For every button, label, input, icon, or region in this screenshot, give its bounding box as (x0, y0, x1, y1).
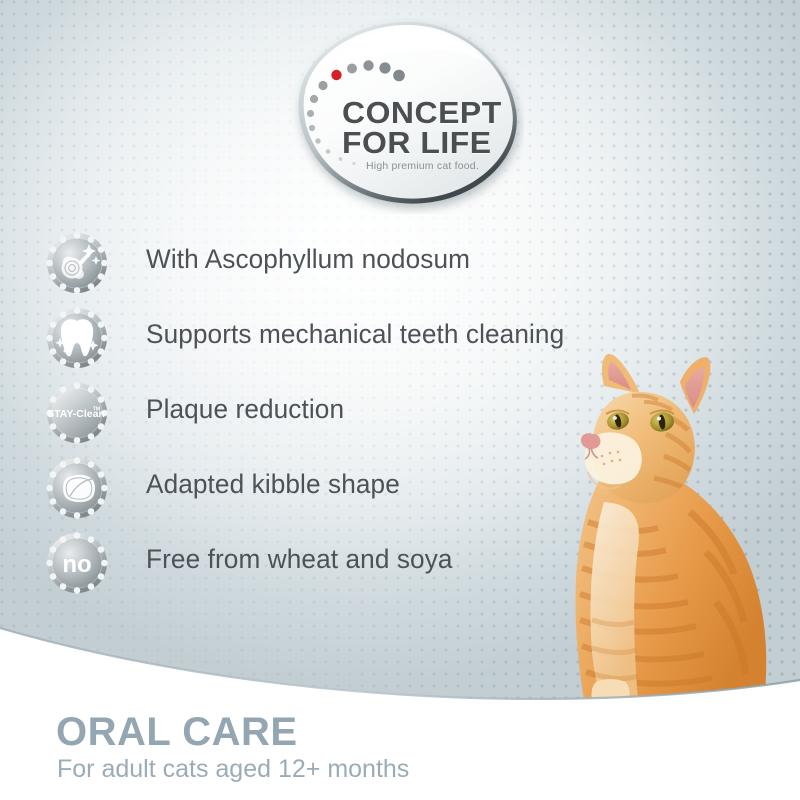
logo-plaque-shape (299, 22, 517, 204)
feature-row: Supports mechanical teeth cleaning (46, 307, 606, 382)
no-badge-icon: no (46, 532, 108, 594)
feature-row: no Free from wheat and soya (46, 532, 606, 607)
feature-label: With Ascophyllum nodosum (146, 244, 470, 275)
logo-accent-dot (331, 70, 341, 80)
feature-label: Supports mechanical teeth cleaning (146, 319, 564, 350)
seaweed-sparkle-icon (46, 232, 108, 294)
feature-label: Plaque reduction (146, 394, 344, 425)
feature-list: With Ascophyllum nodosum (46, 232, 606, 607)
feature-label: Free from wheat and soya (146, 544, 453, 575)
stay-clean-badge-icon: STAY-Clean TM (46, 382, 108, 444)
feature-row: STAY-Clean TM Plaque reduction (46, 382, 606, 457)
feature-row: Adapted kibble shape (46, 457, 606, 532)
feature-row: With Ascophyllum nodosum (46, 232, 606, 307)
stay-clean-trademark: TM (93, 407, 100, 413)
feature-label: Adapted kibble shape (146, 469, 400, 500)
product-feature-graphic: ORAL CARE For adult cats aged 12+ months (0, 0, 800, 800)
banner-subtitle: For adult cats aged 12+ months (57, 757, 409, 782)
banner-title: ORAL CARE (56, 712, 298, 752)
kibble-shape-icon (46, 457, 108, 519)
tooth-sparkle-icon (46, 307, 108, 369)
brand-logo: CONCEPT FOR LIFE High premium cat food. (290, 18, 524, 214)
no-text: no (62, 551, 91, 578)
